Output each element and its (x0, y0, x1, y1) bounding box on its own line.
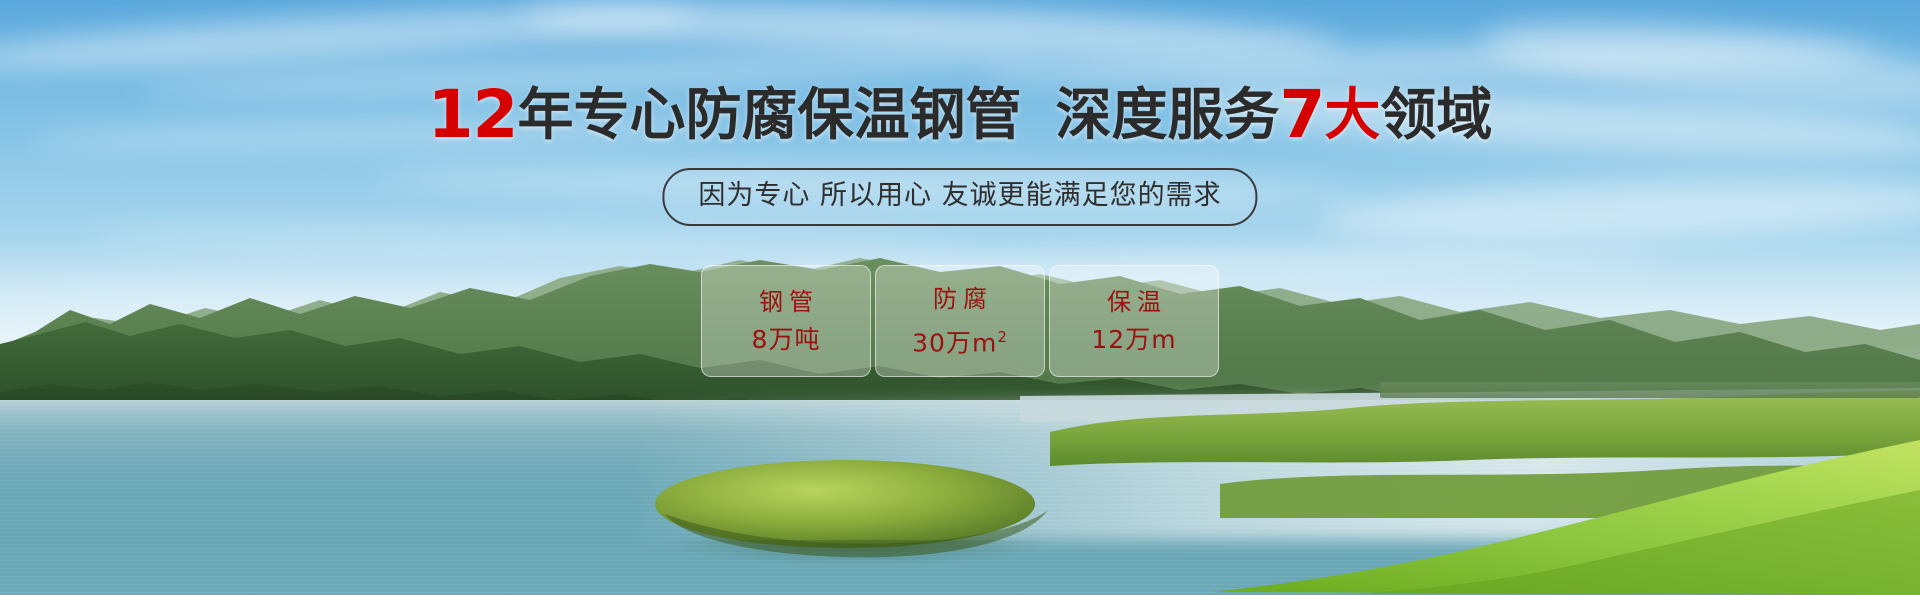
banner-headline: 12年专心防腐保温钢管深度服务7大领域 (0, 84, 1920, 147)
stat-card-group: 钢管 8万吨 防腐 30万m2 保温 12万m (701, 265, 1219, 377)
promo-banner: 12年专心防腐保温钢管深度服务7大领域 因为专心 所以用心 友诚更能满足您的需求… (0, 0, 1920, 595)
stat-value: 8万吨 (752, 327, 821, 353)
stat-label: 钢管 (753, 289, 819, 315)
headline-segment-two: 深度服务 (1055, 83, 1279, 148)
stat-value-superscript: 2 (997, 328, 1008, 346)
headline-segment-one: 年专心防腐保温钢管 (517, 83, 1021, 148)
stat-value-text: 8万吨 (752, 325, 821, 354)
stat-value-text: 12万m (1091, 325, 1176, 354)
banner-subtitle-text: 因为专心 所以用心 友诚更能满足您的需求 (698, 180, 1221, 211)
stat-value: 12万m (1091, 327, 1176, 353)
headline-number-fields: 7 (1279, 76, 1324, 153)
stat-label: 防腐 (927, 286, 993, 312)
stat-card-steel-pipe[interactable]: 钢管 8万吨 (701, 265, 871, 377)
stat-label: 保温 (1101, 289, 1167, 315)
stat-card-insulation[interactable]: 保温 12万m (1049, 265, 1219, 377)
stat-card-anticorrosion[interactable]: 防腐 30万m2 (875, 265, 1045, 377)
banner-subtitle-pill: 因为专心 所以用心 友诚更能满足您的需求 (662, 168, 1257, 226)
stat-value: 30万m2 (912, 324, 1008, 356)
headline-number-years: 12 (428, 76, 518, 153)
stat-value-text: 30万m (912, 328, 997, 357)
headline-red-char: 大 (1324, 83, 1380, 148)
headline-segment-three: 领域 (1380, 83, 1492, 148)
banner-content: 12年专心防腐保温钢管深度服务7大领域 因为专心 所以用心 友诚更能满足您的需求… (0, 0, 1920, 595)
